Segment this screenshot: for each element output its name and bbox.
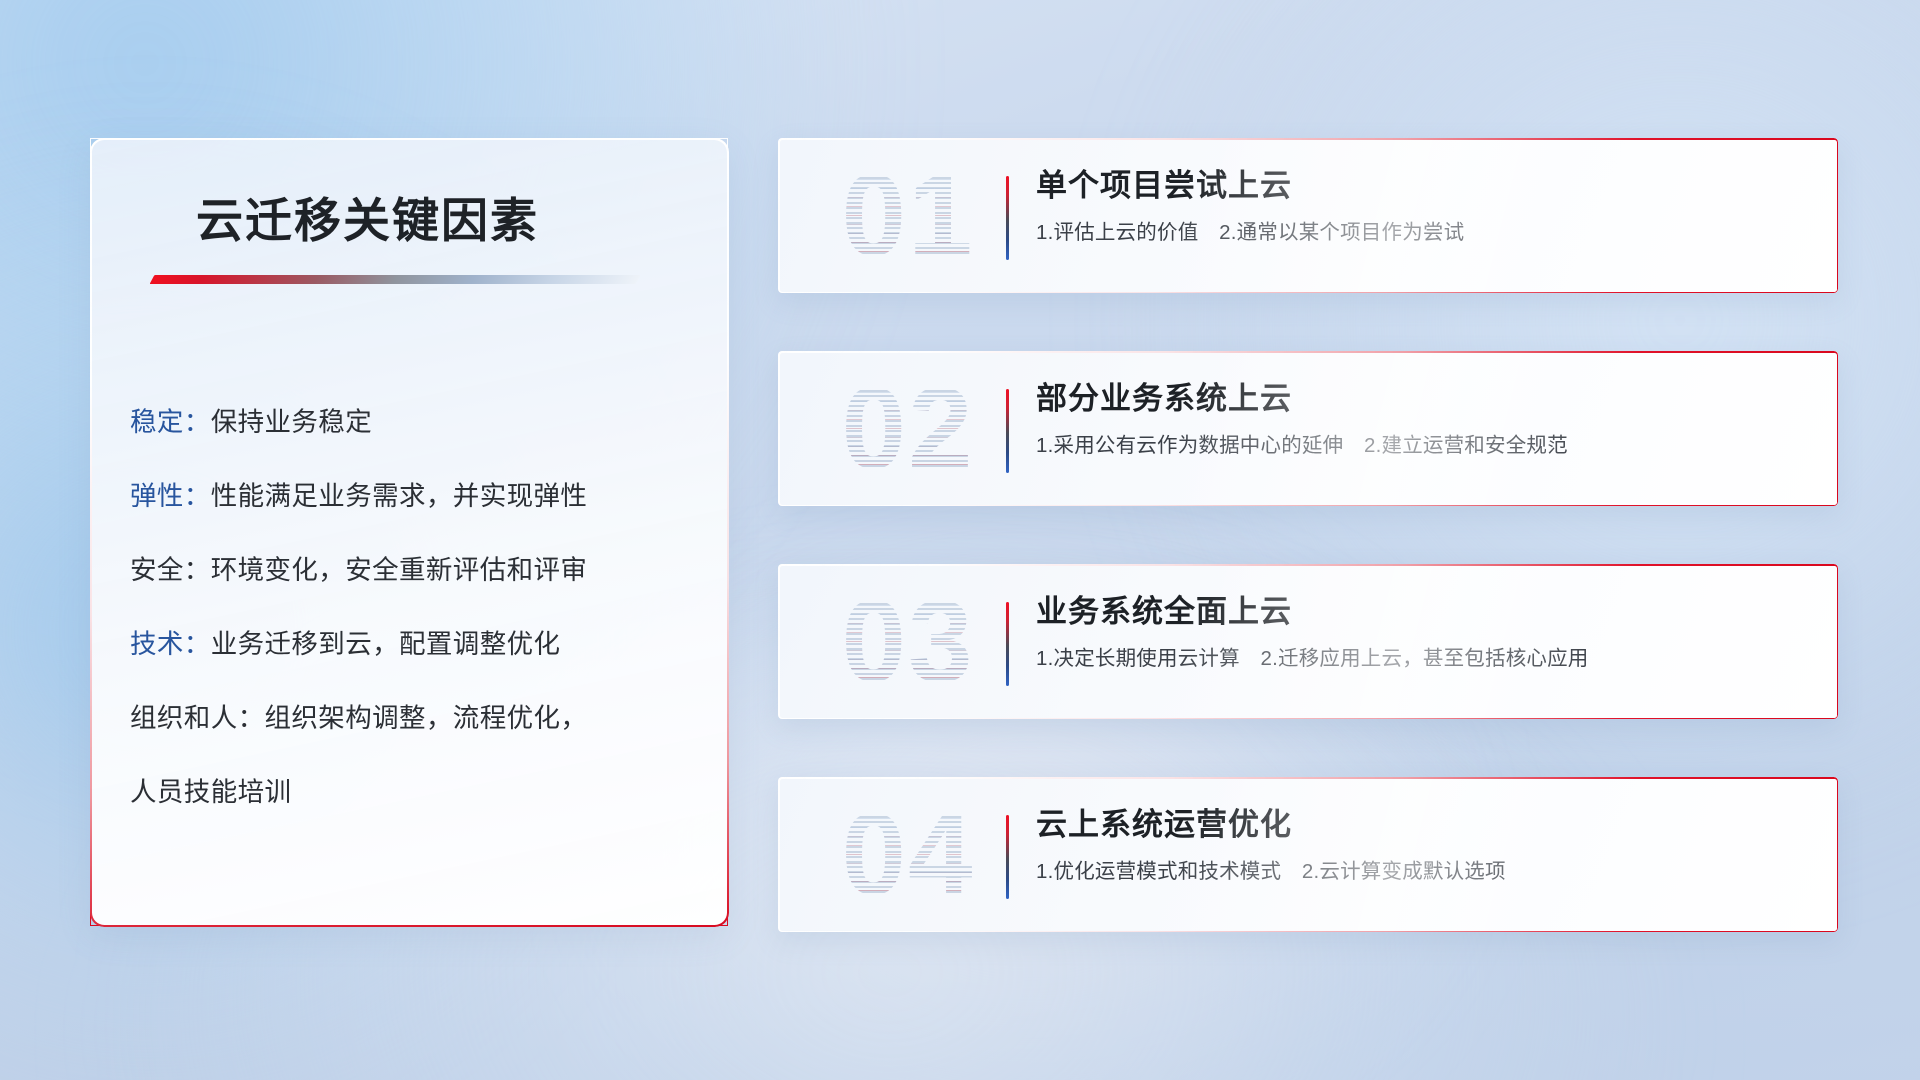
- stage-title: 部分业务系统上云: [1036, 377, 1812, 421]
- stage-card-04[interactable]: 04 04 云上系统运营优化 1.优化运营模式和技术模式 2.云计算变成默认选项: [778, 777, 1838, 932]
- stage-divider-bar: [1006, 176, 1009, 260]
- factor-value: 环境变化，安全重新评估和评审: [211, 555, 588, 585]
- stage-number-watermark: 02: [812, 365, 1004, 491]
- stage-description: 1.优化运营模式和技术模式 2.云计算变成默认选项: [1036, 857, 1812, 887]
- stage-number-watermark: 04: [812, 791, 1004, 917]
- stage-divider-bar: [1006, 389, 1009, 473]
- page-title: 云迁移关键因素: [196, 182, 539, 251]
- stage-card-body: 业务系统全面上云 1.决定长期使用云计算 2.迁移应用上云，甚至包括核心应用: [1036, 590, 1812, 674]
- list-item: 组织和人：组织架构调整，流程优化，: [130, 681, 690, 755]
- list-item: 稳定：保持业务稳定: [130, 385, 690, 459]
- factor-key: 弹性：: [130, 481, 211, 511]
- factor-key: 技术：: [130, 629, 211, 659]
- factor-value: 保持业务稳定: [211, 407, 372, 437]
- title-underline-rule: [150, 275, 641, 284]
- stage-card-list: 01 01 单个项目尝试上云 1.评估上云的价值 2.通常以某个项目作为尝试 0…: [778, 138, 1838, 932]
- stage-number-watermark: 03: [812, 578, 1004, 704]
- factor-value: 业务迁移到云，配置调整优化: [211, 629, 561, 659]
- slide-stage: 云迁移关键因素 稳定：保持业务稳定 弹性：性能满足业务需求，并实现弹性 安全：环…: [0, 0, 1920, 1080]
- list-item: 弹性：性能满足业务需求，并实现弹性: [130, 459, 690, 533]
- list-item: 安全：环境变化，安全重新评估和评审: [130, 533, 690, 607]
- stage-card-body: 单个项目尝试上云 1.评估上云的价值 2.通常以某个项目作为尝试: [1036, 164, 1812, 248]
- stage-title: 单个项目尝试上云: [1036, 164, 1812, 208]
- list-item-continuation: 人员技能培训: [130, 755, 690, 829]
- factor-value: 组织架构调整，流程优化，: [265, 703, 588, 733]
- stage-number-watermark: 01: [812, 152, 1004, 278]
- stage-description: 1.决定长期使用云计算 2.迁移应用上云，甚至包括核心应用: [1036, 644, 1812, 674]
- factor-key: 安全：: [130, 555, 211, 585]
- stage-divider-bar: [1006, 815, 1009, 899]
- stage-title: 云上系统运营优化: [1036, 803, 1812, 847]
- stage-card-body: 云上系统运营优化 1.优化运营模式和技术模式 2.云计算变成默认选项: [1036, 803, 1812, 887]
- stage-title: 业务系统全面上云: [1036, 590, 1812, 634]
- stage-description: 1.采用公有云作为数据中心的延伸 2.建立运营和安全规范: [1036, 431, 1812, 461]
- stage-card-body: 部分业务系统上云 1.采用公有云作为数据中心的延伸 2.建立运营和安全规范: [1036, 377, 1812, 461]
- stage-card-01[interactable]: 01 01 单个项目尝试上云 1.评估上云的价值 2.通常以某个项目作为尝试: [778, 138, 1838, 293]
- factor-key: 组织和人：: [130, 703, 265, 733]
- key-factors-list: 稳定：保持业务稳定 弹性：性能满足业务需求，并实现弹性 安全：环境变化，安全重新…: [130, 385, 690, 829]
- factor-value: 性能满足业务需求，并实现弹性: [211, 481, 588, 511]
- stage-divider-bar: [1006, 602, 1009, 686]
- stage-card-03[interactable]: 03 03 业务系统全面上云 1.决定长期使用云计算 2.迁移应用上云，甚至包括…: [778, 564, 1838, 719]
- factor-key: 稳定：: [130, 407, 211, 437]
- list-item: 技术：业务迁移到云，配置调整优化: [130, 607, 690, 681]
- stage-card-02[interactable]: 02 02 部分业务系统上云 1.采用公有云作为数据中心的延伸 2.建立运营和安…: [778, 351, 1838, 506]
- stage-description: 1.评估上云的价值 2.通常以某个项目作为尝试: [1036, 218, 1812, 248]
